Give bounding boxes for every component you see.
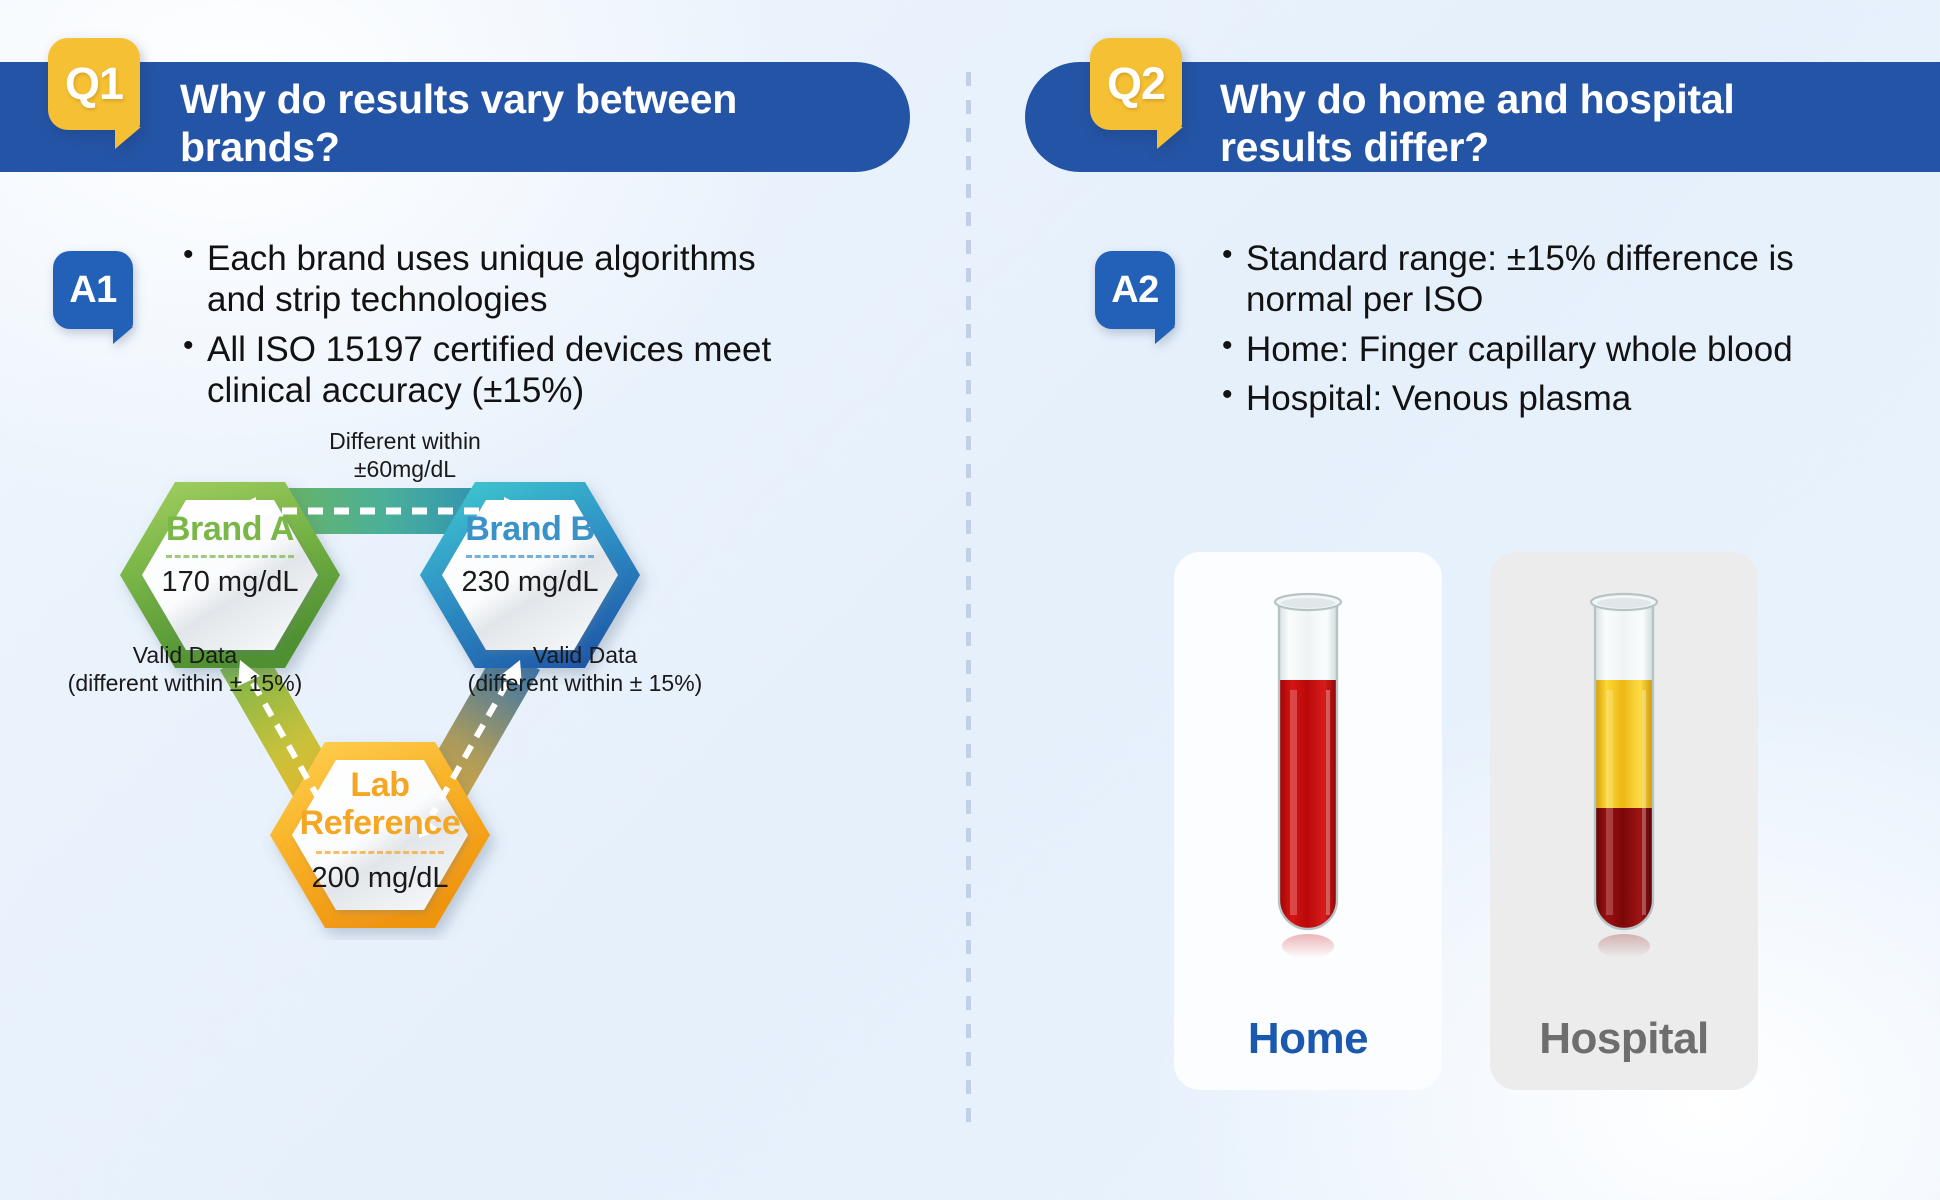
- answer-2-badge-label: A2: [1111, 269, 1159, 312]
- test-tube-hospital-icon: [1490, 560, 1758, 980]
- answer-1-bullet: All ISO 15197 certified devices meet cli…: [183, 329, 883, 412]
- sample-card-hospital: Hospital: [1490, 552, 1758, 1090]
- answer-2-bullet-list: Standard range: ±15% difference is norma…: [1222, 238, 1940, 427]
- question-1-badge: Q1: [48, 38, 140, 130]
- hexagon-diagram-svg: [60, 470, 700, 940]
- answer-1-badge: A1: [53, 251, 133, 329]
- hexagon-network-diagram: Brand A 170 mg/dL Brand B 230 mg/dL Lab …: [60, 470, 700, 940]
- sample-card-home: Home: [1174, 552, 1442, 1090]
- question-2-title: Why do home and hospital results differ?: [1220, 76, 1734, 172]
- answer-2-bullet: Home: Finger capillary whole blood: [1222, 329, 1940, 370]
- sample-label-home: Home: [1174, 1014, 1442, 1064]
- answer-1-bullet-list: Each brand uses unique algorithms and st…: [183, 238, 883, 419]
- answer-1-bullet: Each brand uses unique algorithms and st…: [183, 238, 883, 321]
- panel-question-1: Why do results vary between brands? Q1 A…: [0, 0, 968, 1200]
- edge-label-brand-b-lab: Valid Data (different within ± 15%): [450, 642, 720, 697]
- panel-question-2: [968, 0, 1940, 1200]
- question-2-badge: Q2: [1090, 38, 1182, 130]
- answer-2-bullet: Hospital: Venous plasma: [1222, 378, 1940, 419]
- edge-label-brand-a-lab: Valid Data (different within ± 15%): [50, 642, 320, 697]
- question-1-title: Why do results vary between brands?: [180, 76, 737, 172]
- answer-2-bullet: Standard range: ±15% difference is norma…: [1222, 238, 1940, 321]
- question-2-badge-label: Q2: [1107, 58, 1165, 110]
- question-1-badge-label: Q1: [65, 58, 123, 110]
- answer-1-badge-label: A1: [69, 269, 117, 312]
- edge-label-brand-a-brand-b: Different within ±60mg/dL: [315, 428, 495, 483]
- sample-label-hospital: Hospital: [1490, 1014, 1758, 1064]
- answer-2-badge: A2: [1095, 251, 1175, 329]
- test-tube-home-icon: [1174, 560, 1442, 980]
